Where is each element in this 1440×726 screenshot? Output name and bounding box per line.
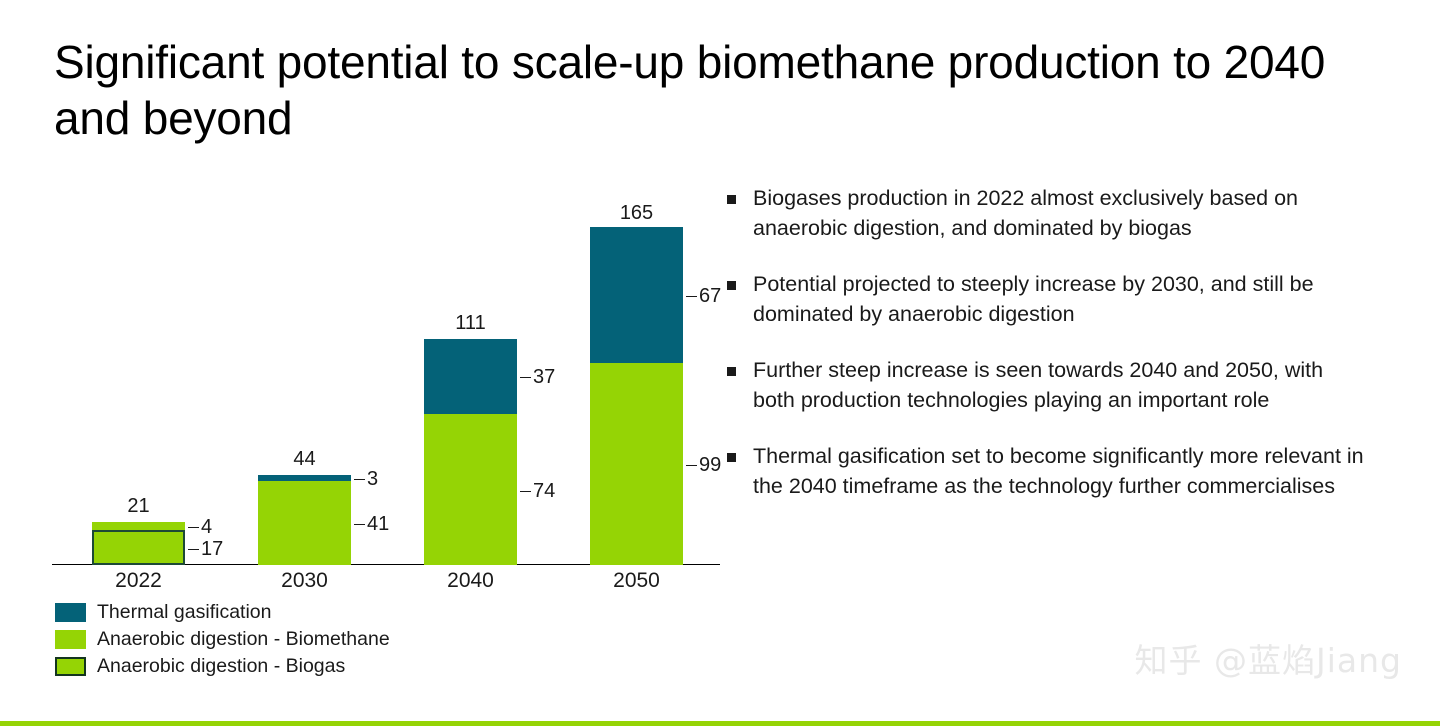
top-accent-bar [0, 0, 1440, 3]
legend-item-thermal[interactable]: Thermal gasification [55, 600, 525, 625]
segment-value-text: 67 [699, 285, 721, 308]
legend-item-biogas[interactable]: Anaerobic digestion - Biogas [55, 654, 525, 679]
segment-value-label-2040-biomethane: 74 [520, 480, 555, 503]
leader-dash-icon [188, 549, 199, 550]
legend-swatch-thermal [55, 603, 86, 622]
bullet-text: Biogases production in 2022 almost exclu… [753, 184, 1367, 243]
leader-dash-icon [686, 296, 697, 297]
bar-segment-2022-biomethane[interactable] [92, 522, 185, 530]
leader-dash-icon [520, 491, 531, 492]
bullet-square-icon [727, 453, 736, 462]
page-title: Significant potential to scale-up biomet… [54, 34, 1374, 146]
bar-total-label-2022: 21 [92, 495, 185, 518]
segment-value-label-2050-biomethane: 99 [686, 454, 721, 477]
bar-2030[interactable]: 41344 [258, 475, 351, 565]
bullet-item: Further steep increase is seen towards 2… [727, 356, 1367, 415]
bar-2022[interactable]: 17421 [92, 522, 185, 565]
chart-plot-area: 174214134474371119967165 202220302040205… [50, 165, 730, 565]
x-tick-2040: 2040 [396, 569, 546, 593]
segment-value-text: 41 [367, 513, 389, 536]
leader-dash-icon [354, 479, 365, 480]
segment-value-text: 3 [367, 468, 378, 491]
x-tick-2050: 2050 [562, 569, 712, 593]
leader-dash-icon [188, 527, 199, 528]
bar-segment-2040-biomethane[interactable] [424, 414, 517, 565]
segment-value-label-2022-biomethane: 4 [188, 516, 212, 539]
segment-value-text: 37 [533, 366, 555, 389]
segment-value-label-2040-thermal: 37 [520, 366, 555, 389]
legend-swatch-biomethane [55, 630, 86, 649]
bullet-text: Thermal gasification set to become signi… [753, 442, 1367, 501]
segment-value-label-2030-thermal: 3 [354, 468, 378, 491]
slide-canvas: Significant potential to scale-up biomet… [0, 0, 1440, 726]
legend-label: Anaerobic digestion - Biomethane [97, 630, 390, 650]
legend-swatch-biogas [55, 657, 86, 676]
bar-segment-2040-thermal[interactable] [424, 339, 517, 414]
bar-total-label-2030: 44 [258, 448, 351, 471]
leader-dash-icon [520, 377, 531, 378]
bullet-square-icon [727, 367, 736, 376]
bar-total-label-2040: 111 [424, 312, 517, 335]
legend-item-biomethane[interactable]: Anaerobic digestion - Biomethane [55, 627, 525, 652]
segment-value-text: 74 [533, 480, 555, 503]
bar-2050[interactable]: 9967165 [590, 229, 683, 565]
x-tick-2022: 2022 [64, 569, 214, 593]
segment-value-text: 99 [699, 454, 721, 477]
segment-value-label-2050-thermal: 67 [686, 285, 721, 308]
bullet-text: Potential projected to steeply increase … [753, 270, 1367, 329]
bar-2040[interactable]: 7437111 [424, 339, 517, 565]
title-block: Significant potential to scale-up biomet… [54, 34, 1374, 146]
bullet-item: Potential projected to steeply increase … [727, 270, 1367, 329]
bullet-square-icon [727, 281, 736, 290]
bullet-item: Thermal gasification set to become signi… [727, 442, 1367, 501]
bullet-list: Biogases production in 2022 almost exclu… [727, 184, 1367, 528]
bar-segment-2050-biomethane[interactable] [590, 363, 683, 565]
bullet-square-icon [727, 195, 736, 204]
watermark: 知乎 @蓝焰Jiang [1135, 634, 1402, 682]
leader-dash-icon [354, 524, 365, 525]
bar-total-label-2050: 165 [590, 202, 683, 225]
segment-value-label-2030-biomethane: 41 [354, 513, 389, 536]
bottom-accent-bar [0, 721, 1440, 726]
chart-legend: Thermal gasificationAnaerobic digestion … [55, 600, 525, 681]
leader-dash-icon [686, 465, 697, 466]
stacked-bar-chart: 174214134474371119967165 202220302040205… [50, 165, 730, 585]
legend-label: Anaerobic digestion - Biogas [97, 657, 345, 677]
bar-segment-2030-thermal[interactable] [258, 475, 351, 481]
segment-value-text: 17 [201, 538, 223, 561]
bar-segment-2050-thermal[interactable] [590, 227, 683, 364]
bar-segment-2030-biomethane[interactable] [258, 481, 351, 565]
bullet-text: Further steep increase is seen towards 2… [753, 356, 1367, 415]
segment-value-label-2022-biogas: 17 [188, 538, 223, 561]
legend-label: Thermal gasification [97, 603, 272, 623]
x-tick-2030: 2030 [230, 569, 380, 593]
bar-segment-2022-biogas[interactable] [92, 530, 185, 565]
segment-value-text: 4 [201, 516, 212, 539]
bullet-item: Biogases production in 2022 almost exclu… [727, 184, 1367, 243]
